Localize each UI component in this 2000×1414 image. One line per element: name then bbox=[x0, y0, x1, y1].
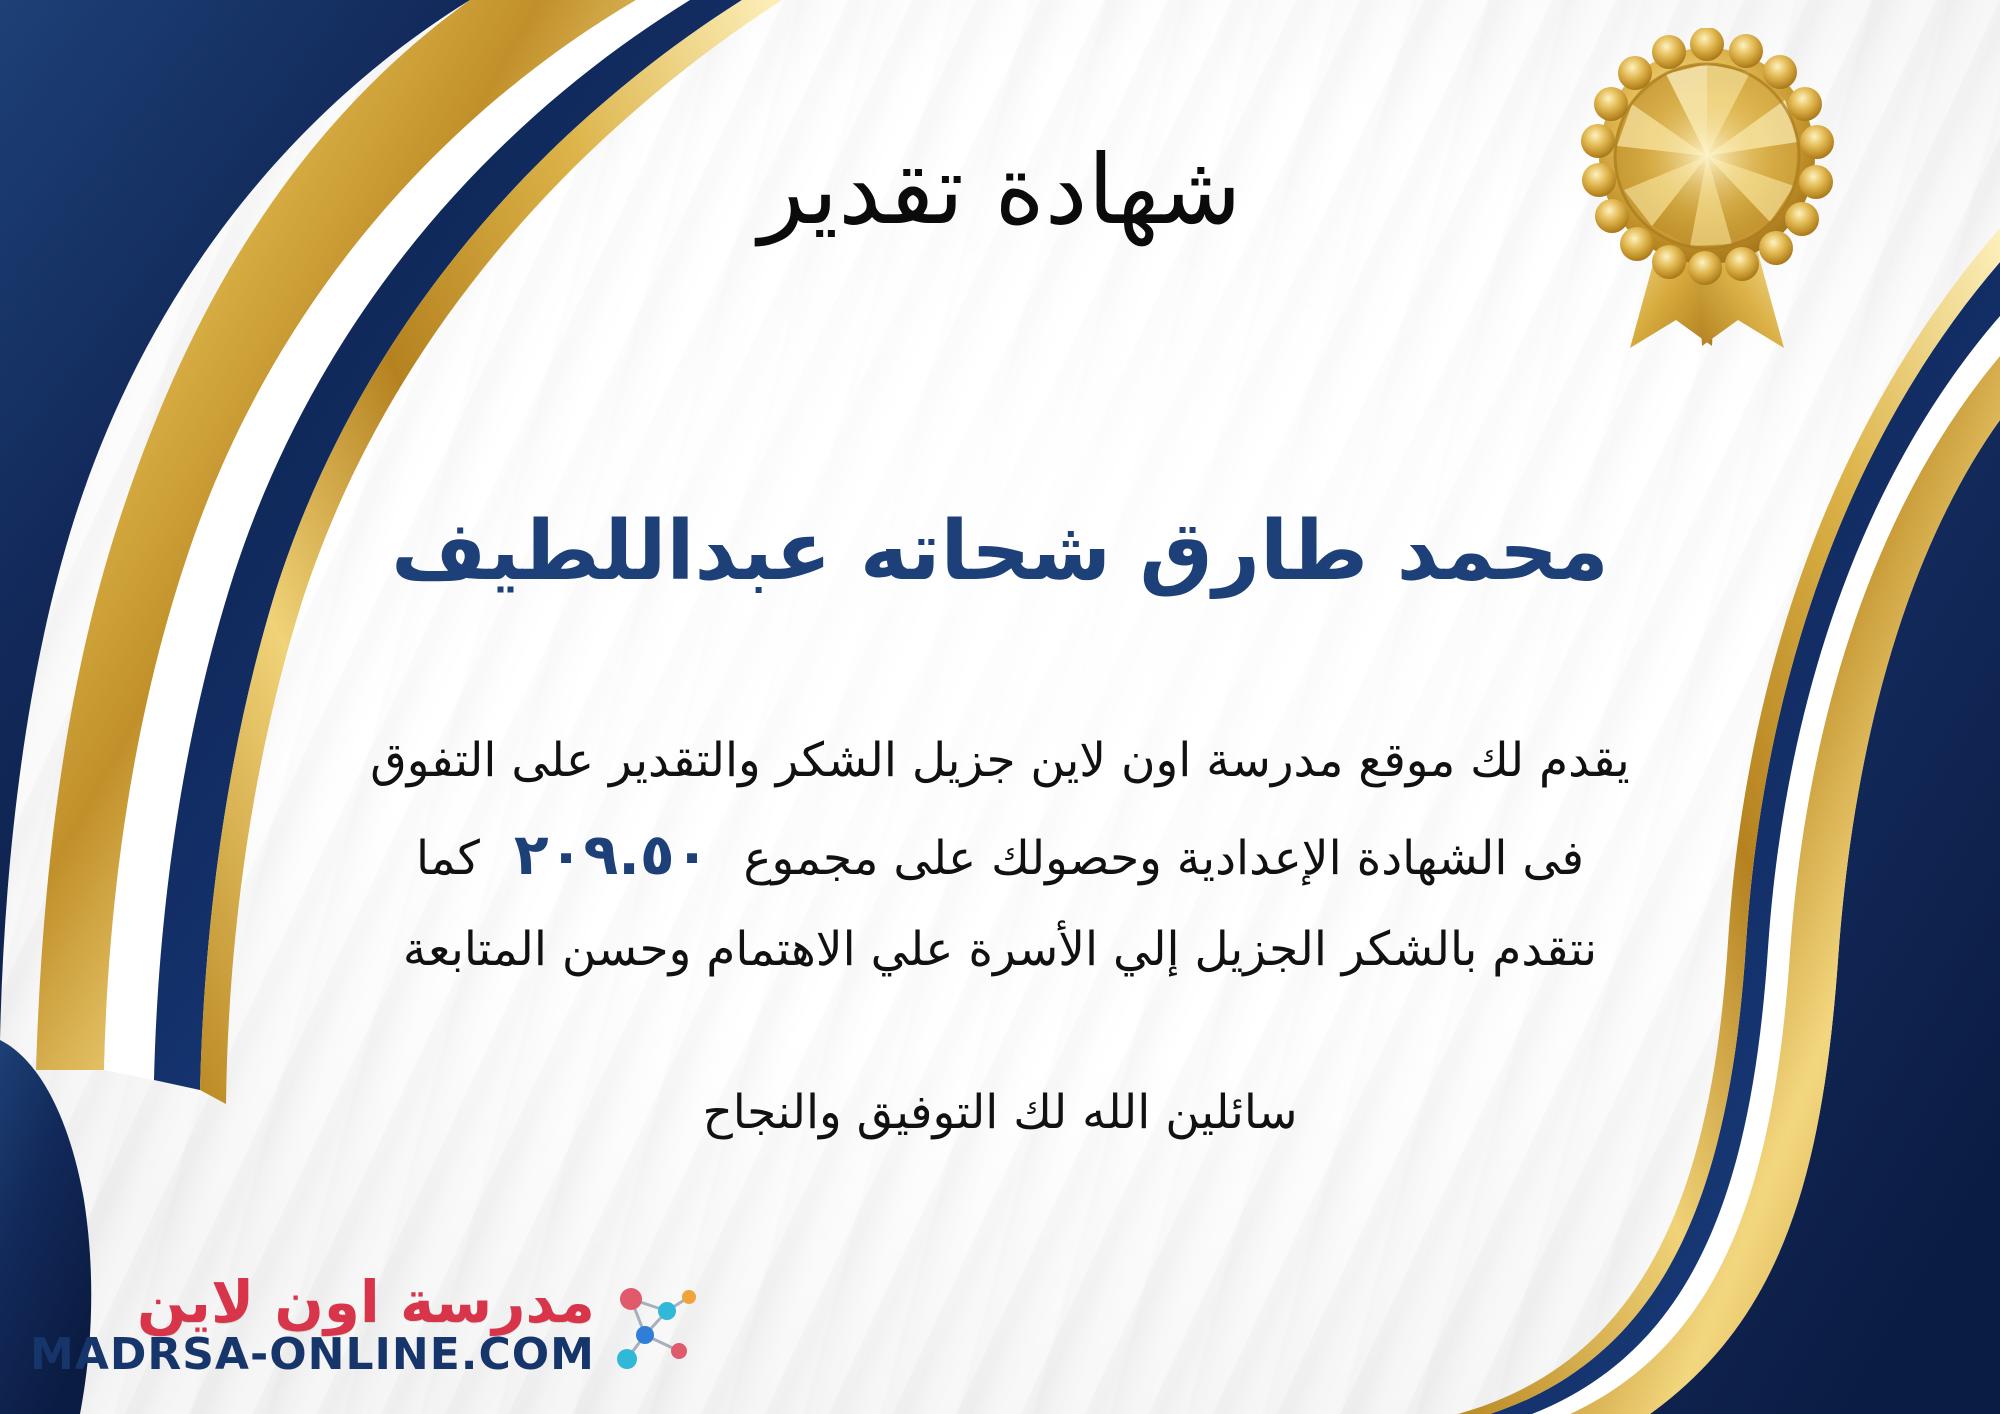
award-rosette-icon bbox=[1572, 28, 1842, 358]
closing-statement: سائلين الله لك التوفيق والنجاح bbox=[0, 1085, 2000, 1140]
body-line-2-prefix: فى الشهادة الإعدادية وحصولك على مجموع bbox=[743, 831, 1584, 886]
recipient-name: محمد طارق شحاته عبداللطيف bbox=[0, 505, 2000, 599]
brand-logo[interactable]: مدرسة اون لاين MADRSA-ONLINE.COM bbox=[30, 1272, 701, 1379]
brand-website: MADRSA-ONLINE.COM bbox=[30, 1332, 595, 1378]
node-cyan bbox=[658, 1302, 676, 1320]
node-red bbox=[620, 1288, 642, 1310]
certificate-body: يقدم لك موقع مدرسة اون لاين جزيل الشكر و… bbox=[60, 718, 1940, 993]
brand-arabic-name: مدرسة اون لاين bbox=[137, 1272, 595, 1332]
certificate-page: شهادة تقدير محمد طارق شحاته عبداللطيف يق… bbox=[0, 0, 2000, 1414]
brand-text-block: مدرسة اون لاين MADRSA-ONLINE.COM bbox=[30, 1272, 595, 1379]
total-score-value: ٢٠٩.٥٠ bbox=[480, 822, 744, 888]
node-red-2 bbox=[671, 1343, 687, 1359]
body-line-1: يقدم لك موقع مدرسة اون لاين جزيل الشكر و… bbox=[60, 718, 1940, 804]
body-line-3: نتقدم بالشكر الجزيل إلي الأسرة علي الاهت… bbox=[60, 907, 1940, 993]
node-blue bbox=[636, 1326, 654, 1344]
network-nodes-icon bbox=[605, 1277, 701, 1373]
body-line-2-suffix: كما bbox=[416, 831, 480, 886]
body-line-2: فى الشهادة الإعدادية وحصولك على مجموع٢٠٩… bbox=[60, 804, 1940, 908]
node-cyan-2 bbox=[617, 1349, 637, 1369]
node-orange bbox=[682, 1290, 696, 1304]
